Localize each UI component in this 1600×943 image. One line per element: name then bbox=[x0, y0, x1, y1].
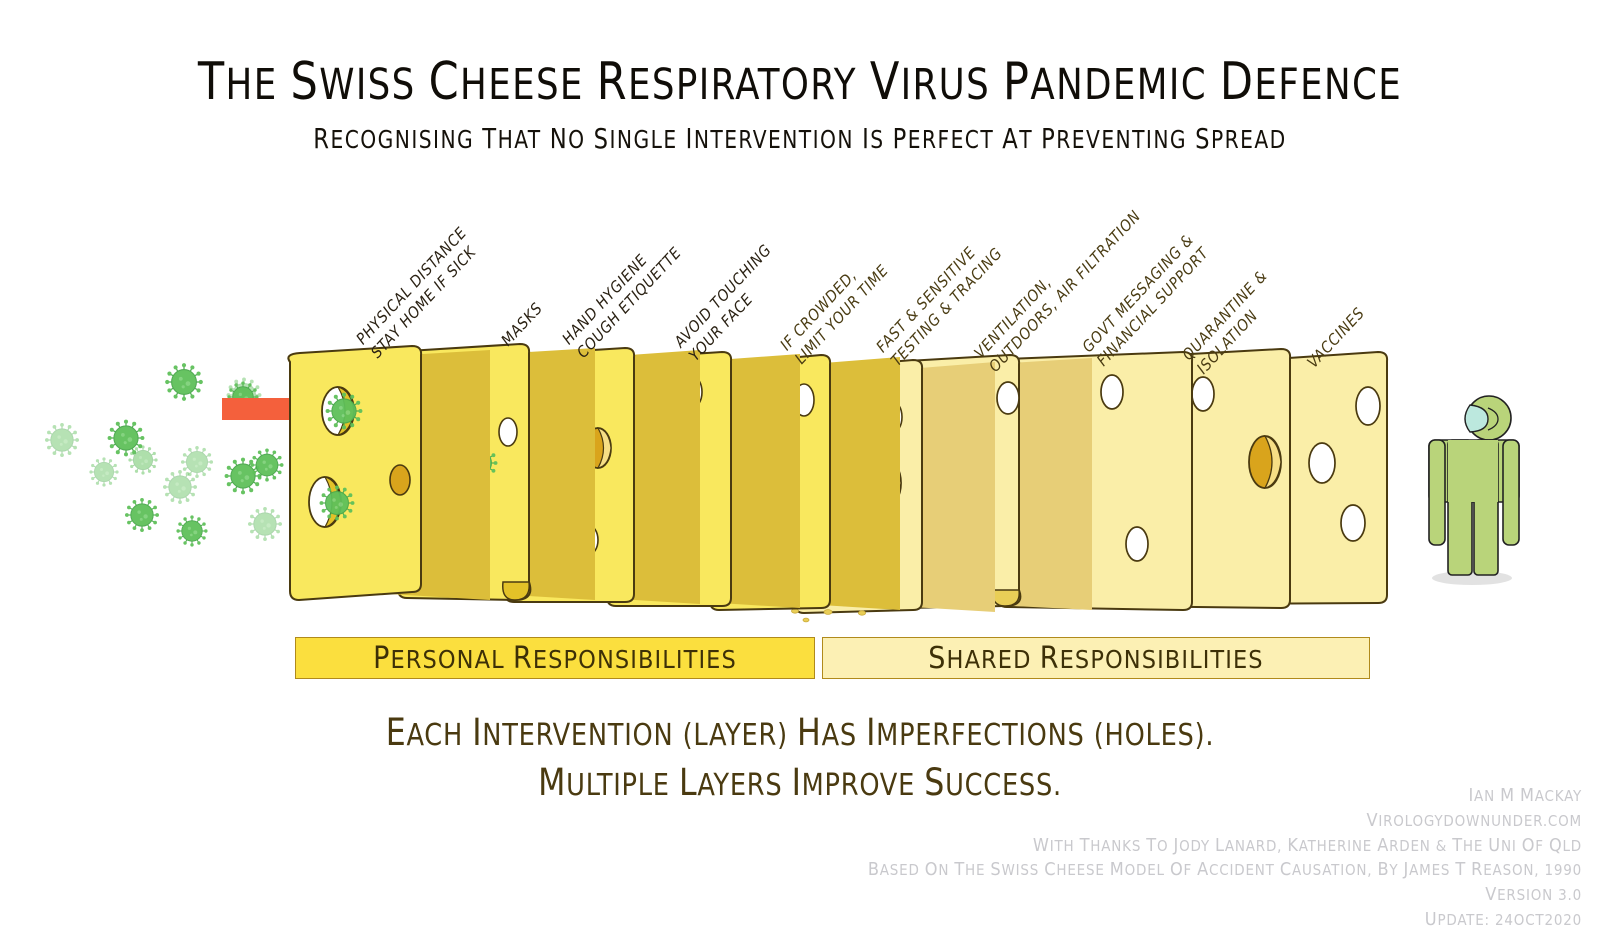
credit-author: IAN M MACKAY bbox=[682, 784, 1582, 809]
shared-responsibilities-bar: SHARED RESPONSIBILITIES bbox=[822, 637, 1370, 679]
credit-version: VERSION 3.0 bbox=[682, 883, 1582, 908]
personal-responsibilities-label: PERSONAL RESPONSIBILITIES bbox=[373, 641, 737, 676]
credit-website: VIROLOGYDOWNUNDER.COM bbox=[682, 809, 1582, 834]
virus-cloud bbox=[45, 363, 284, 546]
masked-person-figure bbox=[1429, 396, 1519, 585]
shared-responsibilities-label: SHARED RESPONSIBILITIES bbox=[928, 641, 1263, 676]
infographic-canvas: THE SWISS CHEESE RESPIRATORY VIRUS PANDE… bbox=[0, 0, 1600, 943]
credit-basis: BASED ON THE SWISS CHEESE MODEL OF ACCID… bbox=[682, 858, 1582, 883]
credit-thanks: WITH THANKS TO JODY LANARD, KATHERINE AR… bbox=[682, 834, 1582, 859]
caption-line-1: EACH INTERVENTION (LAYER) HAS IMPERFECTI… bbox=[40, 708, 1560, 758]
credits-block: IAN M MACKAY VIROLOGYDOWNUNDER.COM WITH … bbox=[682, 784, 1582, 933]
personal-responsibilities-bar: PERSONAL RESPONSIBILITIES bbox=[295, 637, 815, 679]
cheese-slice-physical-distance bbox=[288, 346, 490, 600]
credit-update: UPDATE: 24OCT2020 bbox=[682, 908, 1582, 933]
